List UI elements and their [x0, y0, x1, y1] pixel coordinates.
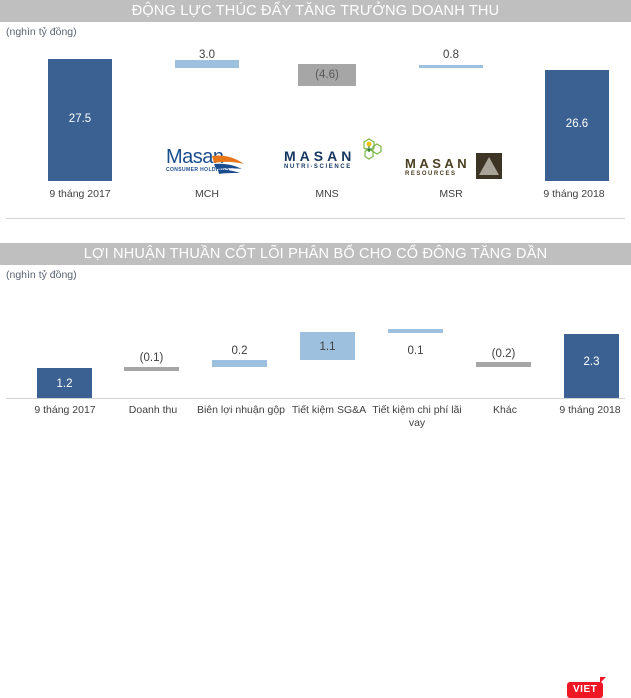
- bar-value-label-4: 1.1: [300, 341, 355, 353]
- bar-value-label-1: 1.2: [37, 378, 92, 390]
- core-profit-panel: LỢI NHUẬN THUẦN CỐT LÕI PHÂN BỔ CHO CỔ Đ…: [0, 243, 631, 281]
- category-label-1: 9 tháng 2017: [15, 404, 115, 417]
- category-label-5: Tiết kiệm chi phí lãi vay: [367, 404, 467, 430]
- bar-3: [212, 360, 267, 367]
- masan-nutri-science-logo: MASAN NUTRI-SCIENCE: [284, 148, 380, 170]
- category-label-2: Doanh thu: [103, 404, 203, 417]
- mns-honeycomb-icon: [356, 138, 382, 160]
- panel-1-units: (nghìn tỷ đồng): [0, 22, 631, 38]
- bar-4: [300, 332, 355, 360]
- msr-logo-wordmark: MASAN: [405, 156, 470, 171]
- bar-2: [124, 367, 179, 371]
- bar-value-label-2: (0.1): [124, 352, 179, 364]
- category-label-6: Khác: [455, 404, 555, 417]
- mns-logo-tagline: NUTRI-SCIENCE: [284, 164, 380, 170]
- chart-2-axis: [6, 398, 625, 399]
- panel-2-units: (nghìn tỷ đồng): [0, 265, 631, 281]
- revenue-growth-panel: ĐỘNG LỰC THÚC ĐẨY TĂNG TRƯỞNG DOANH THU …: [0, 0, 631, 243]
- mch-swoosh-icon: [166, 146, 250, 180]
- panel-2-title: LỢI NHUẬN THUẦN CỐT LÕI PHÂN BỔ CHO CỔ Đ…: [0, 243, 631, 265]
- revenue-waterfall-chart: Masan CONSUMER HOLDINGS MASAN NUTRI-SCIE…: [0, 38, 631, 219]
- bar-value-label-6: (0.2): [476, 348, 531, 360]
- bar-value-label-3: 0.2: [212, 345, 267, 357]
- viet-watermark-badge: VIET: [567, 682, 603, 698]
- masan-resources-logo: MASAN RESOURCES: [405, 153, 502, 179]
- bar-5: [388, 329, 443, 333]
- viet-watermark-label: VIET: [573, 684, 597, 695]
- masan-consumer-holdings-logo: Masan CONSUMER HOLDINGS: [166, 146, 250, 173]
- bar-7: [564, 334, 619, 398]
- bar-value-label-5: 0.1: [388, 345, 443, 357]
- bar-1: [37, 368, 92, 398]
- category-label-3: Biên lợi nhuận gộp: [191, 404, 291, 417]
- panel-1-title: ĐỘNG LỰC THÚC ĐẨY TĂNG TRƯỞNG DOANH THU: [0, 0, 631, 22]
- bar-6: [476, 362, 531, 367]
- viet-flag-icon: [600, 677, 606, 683]
- category-label-4: Tiết kiệm SG&A: [279, 404, 379, 417]
- category-label-7: 9 tháng 2018: [540, 404, 631, 417]
- chart-1-category-axis: [0, 219, 631, 243]
- bar-value-label-7: 2.3: [564, 356, 619, 368]
- msr-mountain-icon: [476, 153, 502, 179]
- msr-logo-tagline: RESOURCES: [405, 171, 470, 177]
